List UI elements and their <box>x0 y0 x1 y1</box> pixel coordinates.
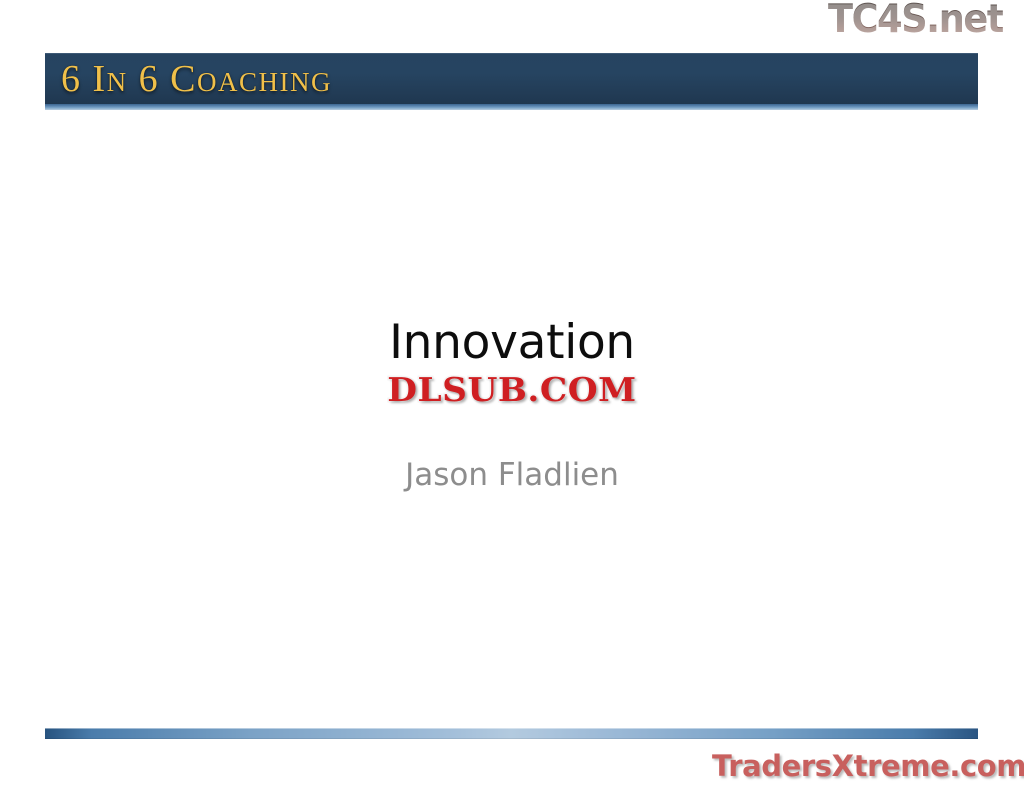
slide-content-area: Innovation Jason Fladlien <box>0 110 1024 720</box>
header-banner-underline <box>45 104 978 110</box>
tradersxtreme-site-watermark: TradersXtreme.com <box>712 748 1024 784</box>
header-banner-title: 6 In 6 Coaching <box>61 55 332 103</box>
tc4s-site-watermark: TC4S.net <box>828 0 1003 42</box>
slide-subtitle-author: Jason Fladlien <box>0 455 1024 495</box>
bottom-decorative-bar <box>45 728 978 739</box>
slide-title: Innovation <box>0 315 1024 371</box>
header-banner: 6 In 6 Coaching <box>45 53 978 104</box>
